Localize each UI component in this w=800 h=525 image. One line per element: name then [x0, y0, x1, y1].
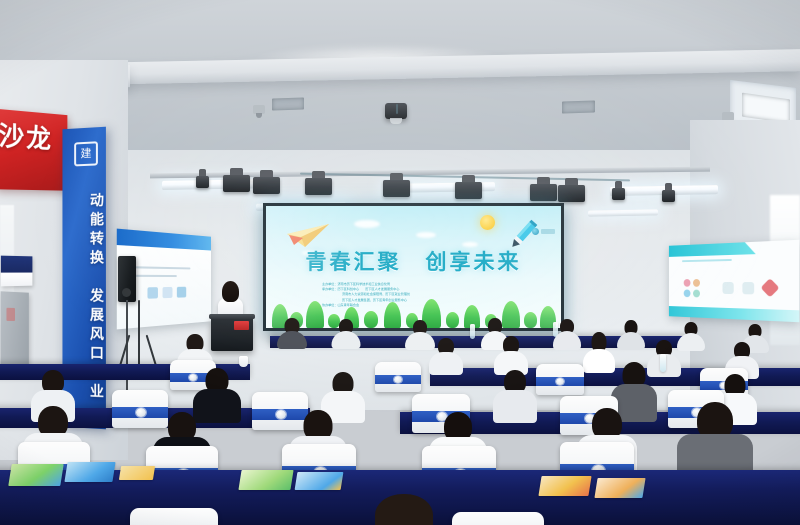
- stage-light-4: [305, 178, 332, 195]
- right-screen-icon-row-left: [684, 279, 706, 297]
- right-screen-icon-a: [684, 279, 691, 287]
- slide-logo-mark: [532, 228, 539, 235]
- brochure-6: [538, 476, 591, 496]
- audience-a5: [552, 319, 582, 348]
- ceiling-vent-right: [562, 100, 595, 113]
- stage-light-8: [558, 185, 585, 202]
- torso: [493, 390, 537, 423]
- stage-light-10: [662, 190, 675, 202]
- torso: [429, 352, 463, 375]
- sun-icon: [480, 215, 495, 230]
- torso: [332, 331, 361, 349]
- stage-light-9: [612, 188, 625, 200]
- torso: [617, 332, 645, 350]
- audience-a2: [330, 319, 362, 347]
- right-screen-icon-row-center: [722, 281, 776, 295]
- right-screen-icon-b: [693, 279, 700, 287]
- chair-buckle: [556, 378, 564, 385]
- brochure-4: [238, 470, 293, 490]
- slide-logo-wordmark: [541, 229, 555, 234]
- cup-icon-b1: [239, 356, 248, 367]
- left-screen-line-1: [132, 266, 191, 269]
- right-screen-icon-c: [684, 290, 691, 298]
- left-screen-icon-c: [177, 287, 186, 298]
- main-led-screen: 青春汇聚 创享未来 主办单位：济南市历下区科学技术和工业信息化局 承办单位：历下…: [263, 203, 564, 331]
- banner-salon-red: 沙龙: [0, 109, 67, 191]
- audience-front-1: [344, 494, 464, 525]
- stage-light-2: [223, 175, 250, 192]
- ceiling-vent-left: [272, 97, 304, 110]
- stage-light-3: [253, 177, 280, 194]
- right-screen-badge-2: [742, 282, 754, 294]
- right-screen-icon-d: [693, 290, 700, 298]
- chair-b3: [536, 364, 584, 395]
- ceiling-cable-1: [396, 104, 398, 114]
- chair-front-2: [452, 512, 544, 525]
- slide-title: 青春汇聚 创享未来: [266, 246, 561, 276]
- brochure-2: [64, 462, 115, 482]
- right-screen-line-1: [682, 259, 732, 262]
- chair-b2: [375, 362, 421, 392]
- stage-light-5: [383, 180, 410, 197]
- audience-b2: [428, 338, 464, 374]
- cloud-icon-1: [354, 220, 380, 228]
- slide-logo: [532, 228, 555, 235]
- banner-salon-text: 沙龙: [0, 115, 53, 156]
- brochure-1: [8, 464, 63, 486]
- audience-a1: [276, 318, 308, 346]
- left-screen-icon-b: [163, 287, 173, 298]
- camera-icon: [253, 105, 265, 114]
- bottle-icon-a1: [470, 324, 475, 339]
- banner-emblem: 建: [74, 141, 98, 166]
- chair-buckle: [136, 408, 146, 417]
- left-screen-icon-a: [147, 287, 157, 299]
- audience-b3: [493, 336, 529, 374]
- brochure-7: [594, 478, 645, 498]
- conference-hall-photo: 沙龙 建 动能转换 发展风口产业: [0, 0, 800, 525]
- speaker-icon: [118, 256, 136, 302]
- audience-d6: [676, 402, 754, 478]
- brochure-5: [295, 472, 344, 490]
- left-screen-icon-row: [147, 287, 186, 299]
- audience-area: [0, 318, 800, 525]
- chair-front-1: [130, 508, 218, 525]
- audience-a6: [616, 320, 646, 348]
- chair-buckle: [394, 376, 402, 383]
- stage-light-1: [196, 176, 209, 188]
- torso: [553, 331, 581, 350]
- brochure-3: [119, 466, 155, 480]
- right-screen-badge-1: [722, 281, 733, 293]
- presenter-hair: [222, 281, 239, 302]
- cloud-icon-2: [416, 232, 436, 238]
- presentation-slide: 青春汇聚 创享未来 主办单位：济南市历下区科学技术和工业信息化局 承办单位：历下…: [266, 206, 561, 328]
- head: [375, 494, 433, 525]
- left-screen-line-2: [132, 275, 177, 277]
- right-screen-badge-3: [761, 278, 780, 297]
- bottle-icon-b1: [660, 354, 666, 372]
- right-led-panel: [669, 240, 799, 322]
- tube-light-6: [588, 209, 658, 216]
- audience-c4: [492, 370, 538, 422]
- stage-light-6: [455, 182, 482, 199]
- torso: [277, 331, 307, 349]
- chair-buckle: [276, 410, 286, 419]
- stage-light-7: [530, 184, 557, 201]
- wall-sign: [1, 256, 33, 287]
